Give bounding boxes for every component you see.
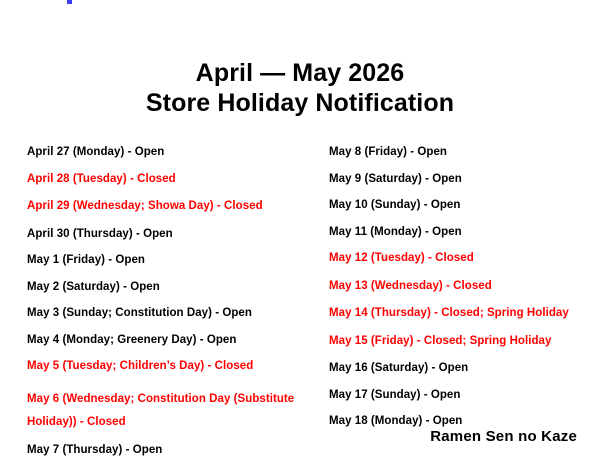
schedule-entry-closed: May 5 (Tuesday; Children’s Day) - Closed — [27, 360, 319, 373]
schedule-entry-closed: May 13 (Wednesday) - Closed — [329, 280, 591, 293]
schedule-entry-open: April 30 (Thursday) - Open — [27, 228, 319, 241]
schedule-entry-open: May 9 (Saturday) - Open — [329, 173, 591, 186]
schedule-entry-open: May 7 (Thursday) - Open — [27, 444, 319, 457]
schedule-entry-open: May 11 (Monday) - Open — [329, 226, 591, 239]
title-line-subject: Store Holiday Notification — [0, 88, 600, 118]
title-line-period: April — May 2026 — [0, 58, 600, 88]
schedule-entry-open: May 18 (Monday) - Open — [329, 415, 591, 428]
store-name-footer: Ramen Sen no Kaze — [0, 428, 577, 445]
schedule-entry-open: May 8 (Friday) - Open — [329, 146, 591, 159]
schedule-entry-open: April 27 (Monday) - Open — [27, 146, 319, 159]
cursor-artifact — [67, 0, 72, 4]
schedule-column-left: April 27 (Monday) - OpenApril 28 (Tuesda… — [27, 146, 319, 470]
schedule-entry-open: May 16 (Saturday) - Open — [329, 362, 591, 375]
schedule-entry-open: May 10 (Sunday) - Open — [329, 199, 591, 212]
schedule-entry-closed: May 6 (Wednesday; Constitution Day (Subs… — [27, 388, 319, 434]
page-title: April — May 2026 Store Holiday Notificat… — [0, 58, 600, 118]
schedule-entry-closed: April 28 (Tuesday) - Closed — [27, 173, 319, 186]
schedule-entry-open: May 2 (Saturday) - Open — [27, 281, 319, 294]
schedule-entry-open: May 4 (Monday; Greenery Day) - Open — [27, 334, 319, 347]
schedule-entry-open: May 1 (Friday) - Open — [27, 254, 319, 267]
holiday-notice-page: April — May 2026 Store Holiday Notificat… — [0, 0, 600, 469]
schedule-entry-open: May 3 (Sunday; Constitution Day) - Open — [27, 307, 319, 320]
schedule-entry-closed: May 12 (Tuesday) - Closed — [329, 252, 591, 265]
schedule-entry-closed: May 15 (Friday) - Closed; Spring Holiday — [329, 335, 591, 348]
schedule-entry-open: May 17 (Sunday) - Open — [329, 389, 591, 402]
schedule-columns: April 27 (Monday) - OpenApril 28 (Tuesda… — [0, 146, 600, 436]
schedule-entry-closed: April 29 (Wednesday; Showa Day) - Closed — [27, 200, 319, 213]
schedule-entry-closed: May 14 (Thursday) - Closed; Spring Holid… — [329, 307, 591, 320]
schedule-column-right: May 8 (Friday) - OpenMay 9 (Saturday) - … — [329, 146, 591, 442]
